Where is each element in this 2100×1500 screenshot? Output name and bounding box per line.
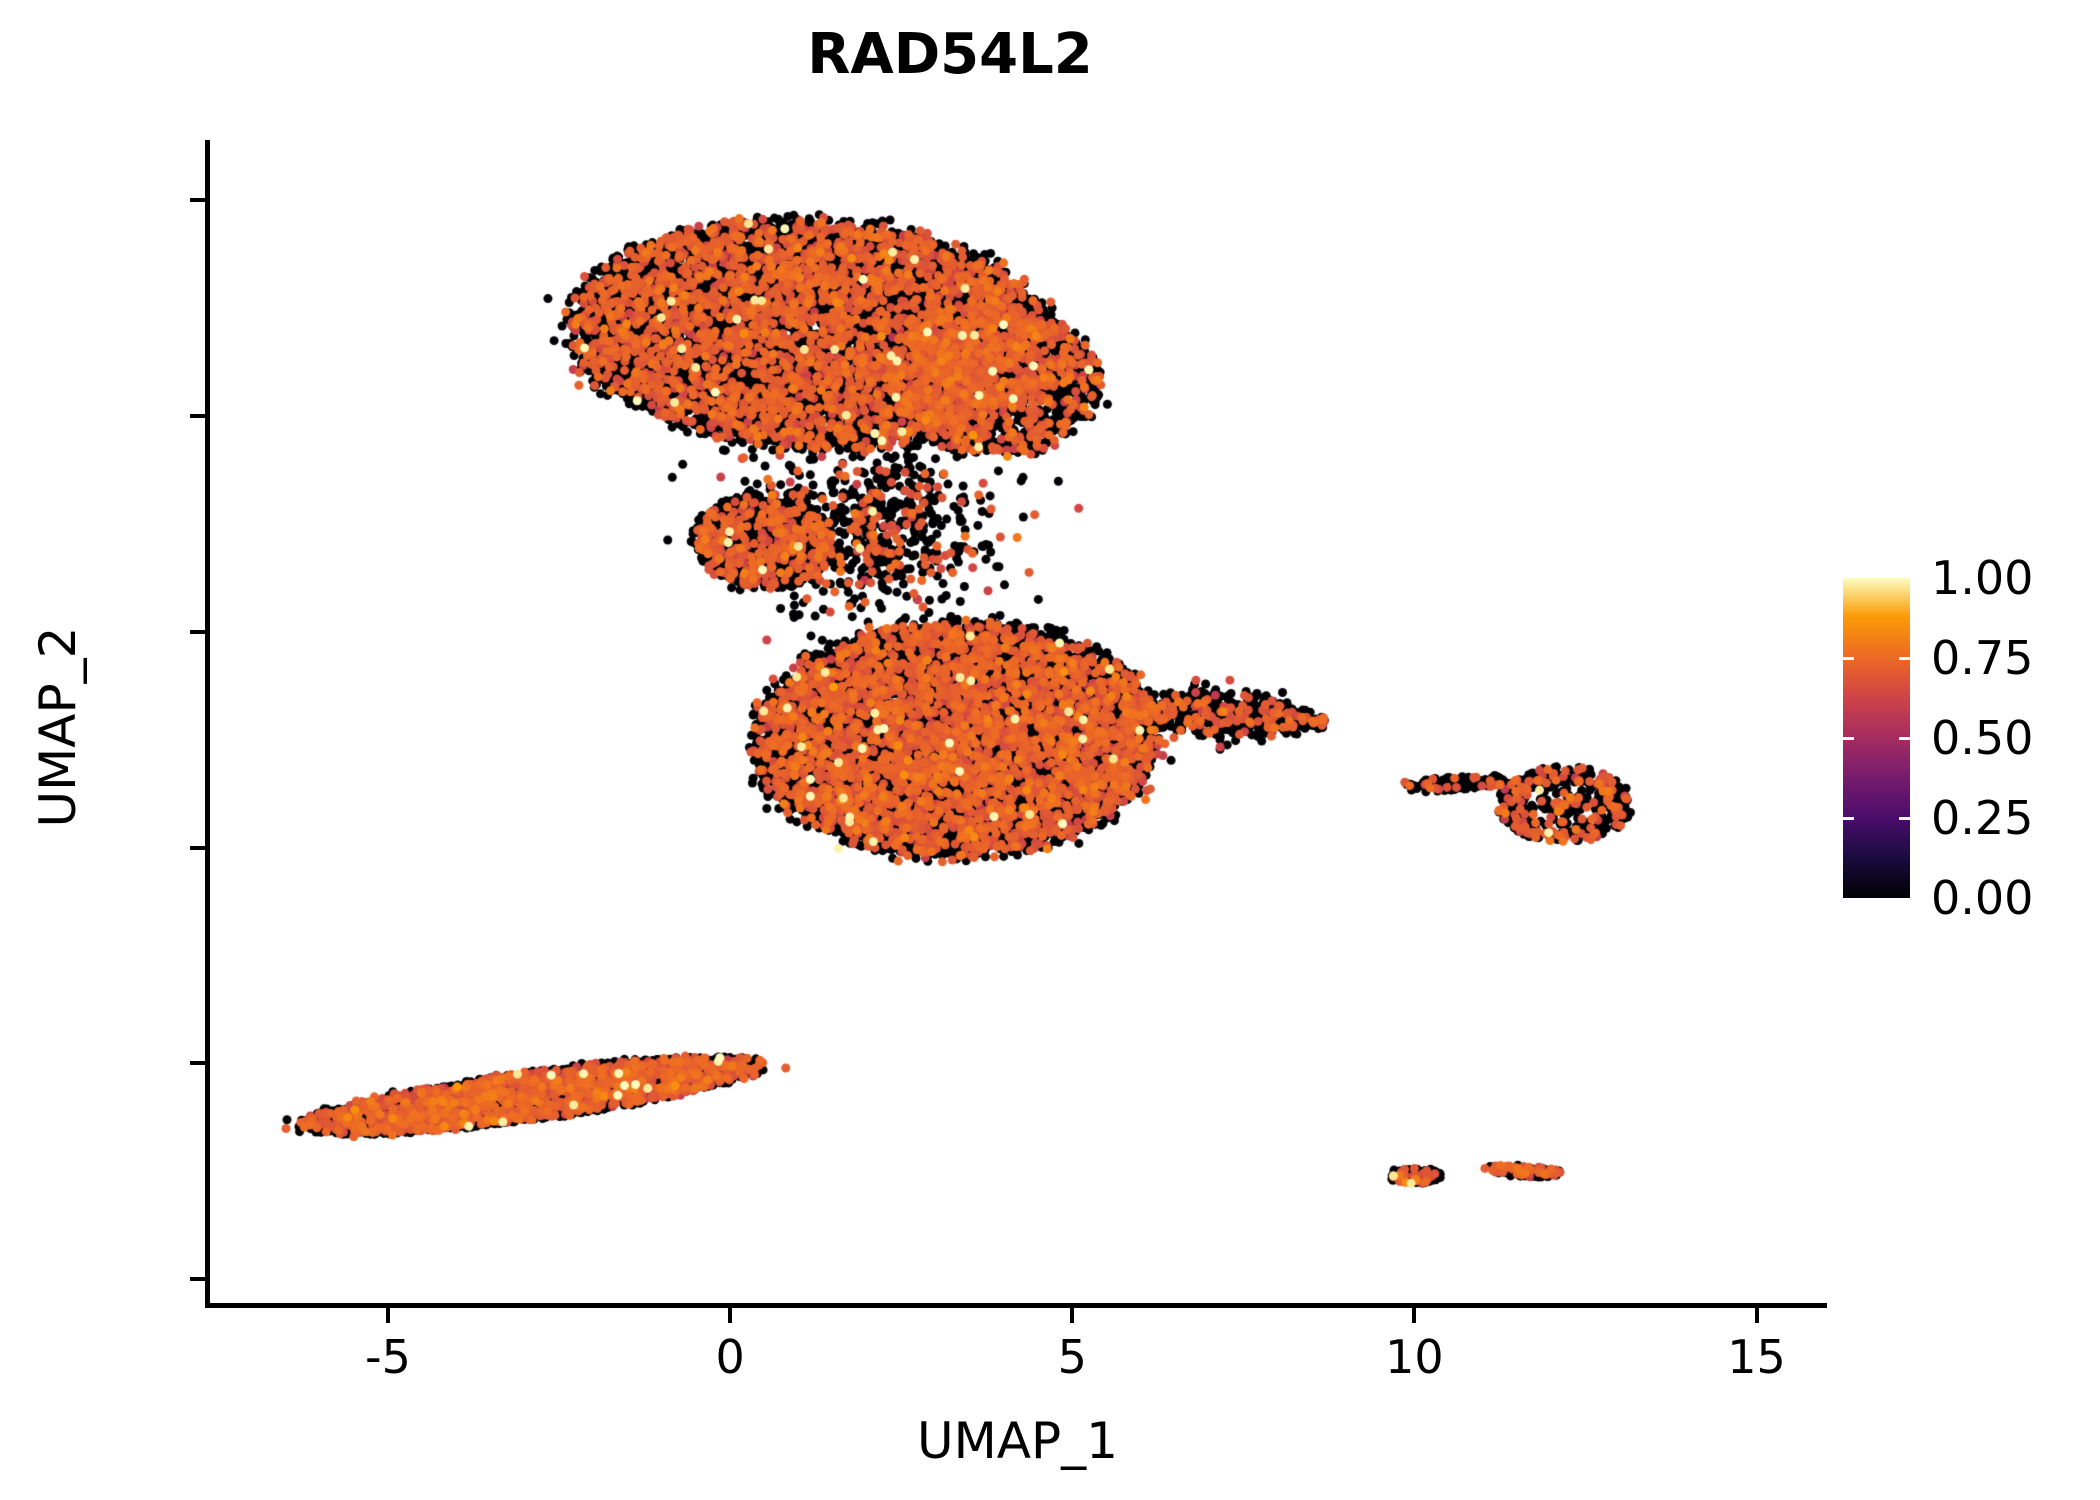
colorbar-tick-mark: [1899, 817, 1910, 820]
colorbar: 1.000.750.500.250.00: [1843, 578, 2093, 908]
colorbar-tick-mark: [1843, 817, 1854, 820]
x-tick-label: 10: [1314, 1330, 1514, 1384]
colorbar-tick-mark: [1899, 737, 1910, 740]
x-tick-mark: [386, 1308, 390, 1323]
x-tick-label: 0: [630, 1330, 830, 1384]
colorbar-tick-label: 0.25: [1931, 795, 2033, 841]
colorbar-tick-label: 0.00: [1931, 875, 2033, 921]
colorbar-tick-label: 0.50: [1931, 715, 2033, 761]
colorbar-tick-label: 1.00: [1931, 555, 2033, 601]
x-axis-label: UMAP_1: [210, 1412, 1825, 1470]
y-tick-mark: [190, 630, 205, 634]
y-tick-mark: [190, 1061, 205, 1065]
x-tick-label: -5: [288, 1330, 488, 1384]
y-axis-spine: [205, 140, 210, 1308]
x-tick-mark: [728, 1308, 732, 1323]
colorbar-tick-label: 0.75: [1931, 635, 2033, 681]
x-axis-spine: [205, 1303, 1827, 1308]
y-tick-mark: [190, 198, 205, 202]
x-tick-mark: [1755, 1308, 1759, 1323]
page-title: RAD54L2: [0, 22, 1900, 87]
colorbar-tick-mark: [1843, 657, 1854, 660]
y-tick-mark: [190, 846, 205, 850]
x-tick-mark: [1412, 1308, 1416, 1323]
y-axis-label: UMAP_2: [29, 352, 87, 1102]
colorbar-tick-mark: [1899, 657, 1910, 660]
plot-area: [210, 140, 1825, 1305]
y-tick-mark: [190, 414, 205, 418]
colorbar-tick-mark: [1843, 737, 1854, 740]
y-tick-mark: [190, 1277, 205, 1281]
scatter-points-layer: [210, 140, 1825, 1305]
x-tick-mark: [1070, 1308, 1074, 1323]
x-tick-label: 5: [972, 1330, 1172, 1384]
x-tick-label: 15: [1657, 1330, 1857, 1384]
umap-feature-plot: RAD54L2 -505101520 -5051015 UMAP_1 UMAP_…: [0, 0, 2100, 1500]
